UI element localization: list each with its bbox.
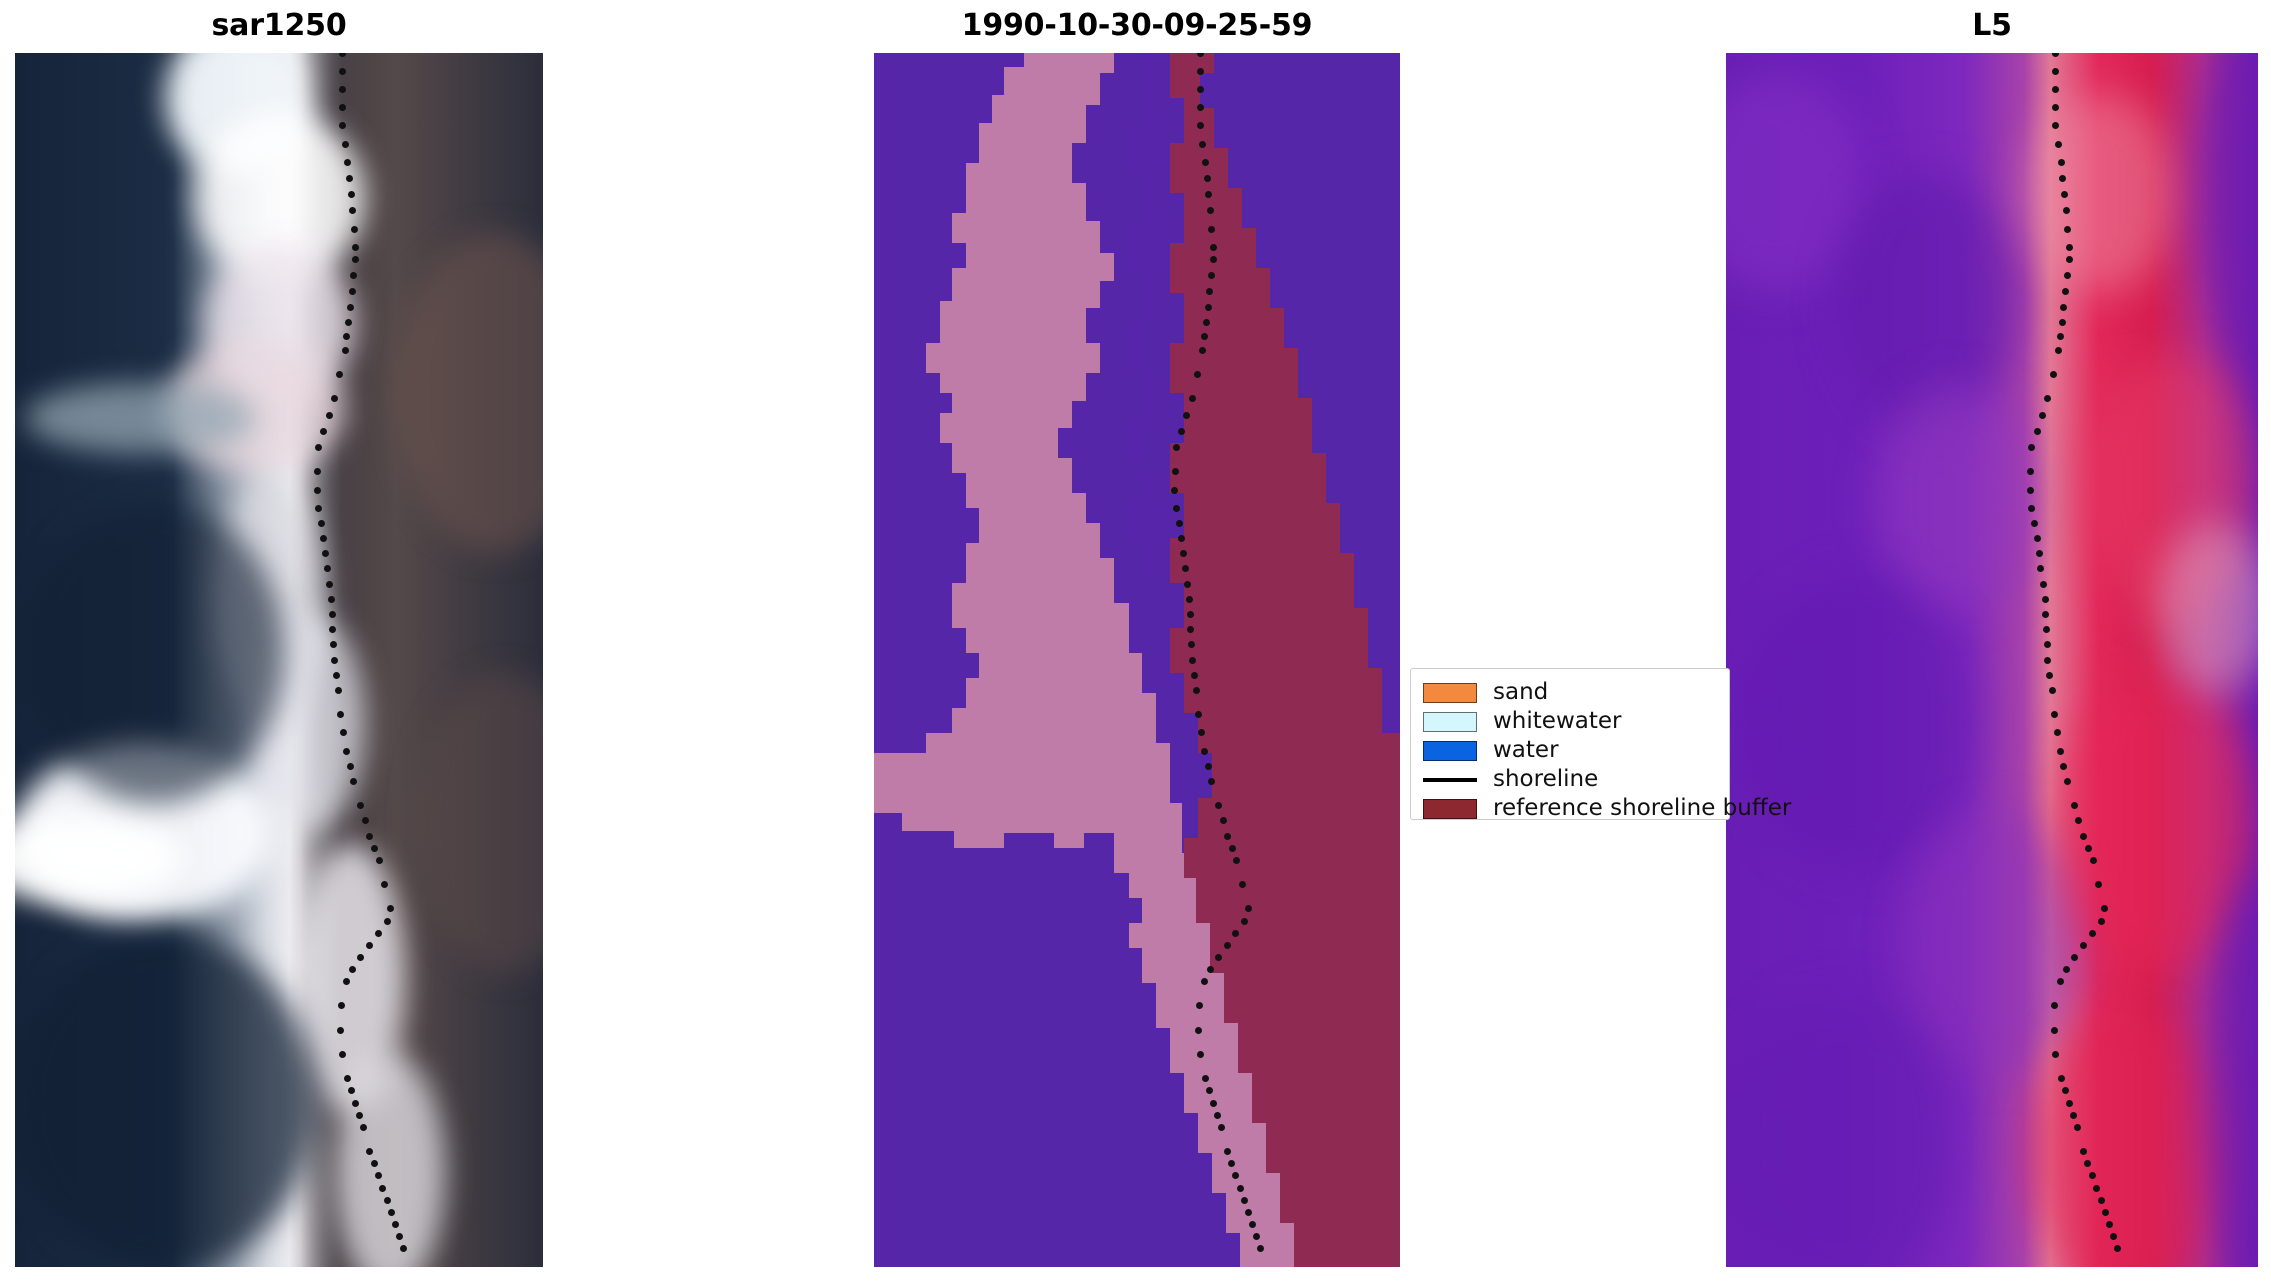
- shoreline-dot: [337, 1027, 344, 1034]
- shoreline-dot: [1210, 256, 1217, 263]
- shoreline-dot: [360, 1124, 367, 1131]
- shoreline-dot: [328, 596, 335, 603]
- shoreline-dot: [2090, 857, 2097, 864]
- shoreline-dot: [329, 611, 336, 618]
- shoreline-dot: [400, 1245, 407, 1252]
- shoreline-dot: [2089, 1172, 2096, 1179]
- shoreline-dot: [326, 412, 333, 419]
- shoreline-dot: [375, 1172, 382, 1179]
- shoreline-dot: [2044, 657, 2051, 664]
- legend-box[interactable]: sand whitewater water shoreline referenc…: [1410, 668, 1730, 820]
- shoreline-dot: [2064, 226, 2071, 233]
- shoreline-dot: [1232, 930, 1239, 937]
- shoreline-dot: [2057, 333, 2064, 340]
- shoreline-dot: [356, 1112, 363, 1119]
- shoreline-dot: [320, 535, 327, 542]
- shoreline-dot: [2042, 611, 2049, 618]
- shoreline-dot: [1189, 657, 1196, 664]
- legend-label-sand: sand: [1493, 681, 1548, 704]
- shoreline-dot: [2062, 288, 2069, 295]
- shoreline-dot: [1196, 1002, 1203, 1009]
- classification-shoreline-dots: [874, 53, 1400, 1267]
- shoreline-dot: [2064, 272, 2071, 279]
- legend-item-reference-buffer[interactable]: reference shoreline buffer: [1423, 794, 1719, 823]
- shoreline-dot: [1224, 1148, 1231, 1155]
- shoreline-dot: [331, 395, 338, 402]
- shoreline-dot: [339, 122, 346, 129]
- shoreline-dot: [1195, 711, 1202, 718]
- shoreline-dot: [1183, 412, 1190, 419]
- legend-label-whitewater: whitewater: [1493, 710, 1621, 733]
- shoreline-dot: [1191, 672, 1198, 679]
- shoreline-dot: [1187, 611, 1194, 618]
- shoreline-dot: [384, 1197, 391, 1204]
- shoreline-dot: [362, 817, 369, 824]
- shoreline-dot: [1180, 550, 1187, 557]
- shoreline-dot: [1207, 966, 1214, 973]
- shoreline-dot: [2052, 86, 2059, 93]
- shoreline-dot: [1215, 802, 1222, 809]
- shoreline-dot: [2039, 412, 2046, 419]
- shoreline-dot: [346, 175, 353, 182]
- shoreline-dot: [1194, 371, 1201, 378]
- shoreline-dot: [315, 444, 322, 451]
- shoreline-dot: [1188, 641, 1195, 648]
- shoreline-dot: [1197, 68, 1204, 75]
- shoreline-dot: [336, 371, 343, 378]
- shoreline-dot: [2058, 1075, 2065, 1082]
- shoreline-dot: [1245, 905, 1252, 912]
- shoreline-dot: [1172, 468, 1179, 475]
- shoreline-dot: [2051, 1027, 2058, 1034]
- shoreline-dot: [350, 778, 357, 785]
- shoreline-dot: [2049, 687, 2056, 694]
- shoreline-dot: [371, 845, 378, 852]
- shoreline-dot: [1253, 1233, 1260, 1240]
- shoreline-dot: [2043, 626, 2050, 633]
- shoreline-dot: [1173, 505, 1180, 512]
- legend-item-water[interactable]: water: [1423, 736, 1719, 765]
- shoreline-dot: [2074, 1124, 2081, 1131]
- shoreline-dot: [1229, 845, 1236, 852]
- shoreline-dot: [1210, 1100, 1217, 1107]
- shoreline-dot: [2062, 1087, 2069, 1094]
- shoreline-dot: [318, 520, 325, 527]
- shoreline-dot: [339, 53, 346, 57]
- shoreline-dot: [1171, 487, 1178, 494]
- shoreline-dot: [339, 86, 346, 93]
- shoreline-dot: [1220, 817, 1227, 824]
- shoreline-dot: [2080, 942, 2087, 949]
- shoreline-dot: [2055, 347, 2062, 354]
- shoreline-dot: [347, 304, 354, 311]
- shoreline-dot: [2060, 763, 2067, 770]
- shoreline-dot: [337, 711, 344, 718]
- shoreline-dot: [345, 319, 352, 326]
- classification-axes: [874, 53, 1400, 1267]
- shoreline-dot: [357, 802, 364, 809]
- shoreline-dot: [339, 1051, 346, 1058]
- shoreline-dot: [2051, 1002, 2058, 1009]
- shoreline-dot: [2027, 487, 2034, 494]
- shoreline-dot: [1205, 304, 1212, 311]
- shoreline-dot: [2061, 191, 2068, 198]
- shoreline-dot: [2042, 596, 2049, 603]
- shoreline-dot: [2028, 505, 2035, 512]
- shoreline-dot: [2058, 159, 2065, 166]
- shoreline-dot: [2071, 802, 2078, 809]
- shoreline-dot: [2114, 1245, 2121, 1252]
- shoreline-dot: [344, 159, 351, 166]
- shoreline-dot: [2059, 319, 2066, 326]
- shoreline-dot: [1210, 244, 1217, 251]
- reference-buffer-swatch: [1423, 799, 1477, 819]
- shoreline-dot: [1187, 626, 1194, 633]
- shoreline-dot: [1237, 1185, 1244, 1192]
- shoreline-dot: [2044, 395, 2051, 402]
- shoreline-dot: [331, 657, 338, 664]
- shoreline-dot: [326, 581, 333, 588]
- shoreline-dot: [2052, 1051, 2059, 1058]
- shoreline-dot: [1202, 159, 1209, 166]
- shoreline-dot: [315, 505, 322, 512]
- shoreline-dot: [1241, 918, 1248, 925]
- shoreline-dot: [2084, 1160, 2091, 1167]
- shoreline-dot: [2051, 711, 2058, 718]
- shoreline-dot: [339, 68, 346, 75]
- panel-title-sar: sar1250: [15, 8, 543, 43]
- shoreline-dot: [1228, 1160, 1235, 1167]
- shoreline-dot: [347, 763, 354, 770]
- shoreline-dot: [2095, 881, 2102, 888]
- shoreline-dot: [2066, 256, 2073, 263]
- shoreline-dot: [1201, 978, 1208, 985]
- shoreline-dot: [335, 687, 342, 694]
- shoreline-dot: [1218, 1124, 1225, 1131]
- shoreline-dot: [352, 256, 359, 263]
- shoreline-dot: [2093, 1185, 2100, 1192]
- shoreline-dot: [1257, 1245, 1264, 1252]
- shoreline-dot: [1232, 1172, 1239, 1179]
- sand-swatch: [1423, 683, 1477, 703]
- shoreline-line-swatch: [1423, 778, 1477, 782]
- shoreline-dot: [1206, 1087, 1213, 1094]
- shoreline-dot: [396, 1233, 403, 1240]
- shoreline-dot: [1197, 86, 1204, 93]
- shoreline-dot: [314, 468, 321, 475]
- shoreline-dot: [1195, 1027, 1202, 1034]
- shoreline-dot: [1208, 272, 1215, 279]
- shoreline-dot: [320, 428, 327, 435]
- shoreline-dot: [371, 1160, 378, 1167]
- shoreline-dot: [1199, 347, 1206, 354]
- shoreline-dot: [2071, 954, 2078, 961]
- shoreline-dot: [2102, 1209, 2109, 1216]
- shoreline-dot: [330, 641, 337, 648]
- shoreline-dot: [1233, 857, 1240, 864]
- shoreline-dot: [2098, 918, 2105, 925]
- shoreline-dot: [2106, 1221, 2113, 1228]
- shoreline-dot: [2034, 428, 2041, 435]
- panel-title-l5: L5: [1726, 8, 2258, 43]
- shoreline-dot: [352, 244, 359, 251]
- shoreline-dot: [339, 104, 346, 111]
- shoreline-dot: [1204, 175, 1211, 182]
- shoreline-dot: [2034, 535, 2041, 542]
- shoreline-dot: [388, 1209, 395, 1216]
- shoreline-dot: [324, 565, 331, 572]
- shoreline-dot: [343, 748, 350, 755]
- sar-panel[interactable]: [15, 53, 543, 1267]
- shoreline-dot: [2085, 845, 2092, 852]
- shoreline-dot: [375, 930, 382, 937]
- shoreline-dot: [1206, 288, 1213, 295]
- shoreline-dot: [329, 626, 336, 633]
- shoreline-dot: [1178, 428, 1185, 435]
- shoreline-dot: [1182, 565, 1189, 572]
- shoreline-dot: [1178, 535, 1185, 542]
- shoreline-dot: [1207, 207, 1214, 214]
- panel-title-classification: 1990-10-30-09-25-59: [874, 8, 1400, 43]
- shoreline-dot: [2064, 778, 2071, 785]
- shoreline-dot: [2037, 565, 2044, 572]
- shoreline-dot: [1184, 581, 1191, 588]
- shoreline-dot: [2036, 550, 2043, 557]
- shoreline-dot: [1214, 1112, 1221, 1119]
- shoreline-dot: [343, 333, 350, 340]
- shoreline-dot: [343, 978, 350, 985]
- shoreline-dot: [1224, 833, 1231, 840]
- shoreline-dot: [379, 1185, 386, 1192]
- figure-canvas: sar1250 1990-10-30-09-25-59: [0, 0, 2271, 1283]
- shoreline-dot: [2063, 966, 2070, 973]
- shoreline-dot: [314, 487, 321, 494]
- shoreline-dot: [2052, 104, 2059, 111]
- shoreline-dot: [1201, 748, 1208, 755]
- shoreline-dot: [352, 1100, 359, 1107]
- shoreline-dot: [2046, 672, 2053, 679]
- shoreline-dot: [2057, 978, 2064, 985]
- shoreline-dot: [2075, 817, 2082, 824]
- shoreline-dot: [2054, 729, 2061, 736]
- shoreline-dot: [1198, 729, 1205, 736]
- shoreline-dot: [2028, 444, 2035, 451]
- shoreline-dot: [2080, 1148, 2087, 1155]
- sar-axes: [15, 53, 543, 1267]
- shoreline-dot: [1189, 395, 1196, 402]
- shoreline-dot: [349, 288, 356, 295]
- shoreline-dot: [1202, 1075, 1209, 1082]
- shoreline-dot: [1173, 444, 1180, 451]
- shoreline-dot: [1197, 1051, 1204, 1058]
- shoreline-dot: [2101, 905, 2108, 912]
- shoreline-dot: [366, 833, 373, 840]
- shoreline-dot: [1224, 942, 1231, 949]
- water-swatch: [1423, 741, 1477, 761]
- shoreline-dot: [342, 347, 349, 354]
- legend-item-sand[interactable]: sand: [1423, 678, 1719, 707]
- classification-panel[interactable]: [874, 53, 1400, 1267]
- legend-item-whitewater[interactable]: whitewater: [1423, 707, 1719, 736]
- shoreline-dot: [1201, 333, 1208, 340]
- legend-label-water: water: [1493, 739, 1559, 762]
- shoreline-dot: [2089, 930, 2096, 937]
- shoreline-dot: [381, 881, 388, 888]
- shoreline-dot: [322, 550, 329, 557]
- shoreline-dot: [1197, 53, 1204, 57]
- shoreline-dot: [351, 226, 358, 233]
- shoreline-dot: [340, 729, 347, 736]
- shoreline-dot: [1197, 104, 1204, 111]
- shoreline-dot: [1245, 1209, 1252, 1216]
- l5-shoreline-dots: [1726, 53, 2258, 1267]
- shoreline-dot: [2060, 304, 2067, 311]
- shoreline-dot: [2052, 53, 2059, 57]
- shoreline-dot: [2066, 244, 2073, 251]
- shoreline-dot: [333, 672, 340, 679]
- shoreline-dot: [366, 942, 373, 949]
- shoreline-dot: [384, 918, 391, 925]
- shoreline-dot: [348, 1087, 355, 1094]
- shoreline-dot: [2050, 371, 2057, 378]
- whitewater-swatch: [1423, 712, 1477, 732]
- l5-axes: [1726, 53, 2258, 1267]
- shoreline-dot: [392, 1221, 399, 1228]
- shoreline-dot: [2070, 1112, 2077, 1119]
- shoreline-dot: [338, 1002, 345, 1009]
- shoreline-dot: [2057, 748, 2064, 755]
- shoreline-dot: [1205, 763, 1212, 770]
- shoreline-dot: [2027, 468, 2034, 475]
- shoreline-dot: [2066, 1100, 2073, 1107]
- shoreline-dot: [2080, 833, 2087, 840]
- legend-label-shoreline: shoreline: [1493, 768, 1598, 791]
- shoreline-dot: [357, 954, 364, 961]
- shoreline-dot: [2063, 207, 2070, 214]
- shoreline-dot: [2110, 1233, 2117, 1240]
- shoreline-dot: [1215, 954, 1222, 961]
- shoreline-dot: [1249, 1221, 1256, 1228]
- shoreline-dot: [349, 966, 356, 973]
- shoreline-dot: [387, 905, 394, 912]
- shoreline-dot: [1208, 226, 1215, 233]
- shoreline-dot: [2098, 1197, 2105, 1204]
- shoreline-dot: [2059, 175, 2066, 182]
- shoreline-dot: [2055, 141, 2062, 148]
- shoreline-dot: [2031, 520, 2038, 527]
- shoreline-dot: [1193, 687, 1200, 694]
- shoreline-dot: [1199, 141, 1206, 148]
- shoreline-dot: [2052, 68, 2059, 75]
- shoreline-dot: [366, 1148, 373, 1155]
- legend-label-reference-buffer: reference shoreline buffer: [1493, 797, 1791, 820]
- legend-item-shoreline[interactable]: shoreline: [1423, 765, 1719, 794]
- shoreline-dot: [1203, 319, 1210, 326]
- shoreline-dot: [348, 191, 355, 198]
- sar-shoreline-dots: [15, 53, 543, 1267]
- shoreline-dot: [349, 207, 356, 214]
- l5-panel[interactable]: [1726, 53, 2258, 1267]
- shoreline-dot: [1176, 520, 1183, 527]
- shoreline-dot: [1239, 881, 1246, 888]
- shoreline-dot: [1208, 778, 1215, 785]
- shoreline-dot: [342, 141, 349, 148]
- shoreline-dot: [2044, 641, 2051, 648]
- shoreline-dot: [344, 1075, 351, 1082]
- shoreline-dot: [376, 857, 383, 864]
- shoreline-dot: [1197, 122, 1204, 129]
- shoreline-dot: [1241, 1197, 1248, 1204]
- shoreline-dot: [2040, 581, 2047, 588]
- shoreline-dot: [1186, 596, 1193, 603]
- shoreline-dot: [2052, 122, 2059, 129]
- shoreline-dot: [350, 272, 357, 279]
- shoreline-dot: [1205, 191, 1212, 198]
